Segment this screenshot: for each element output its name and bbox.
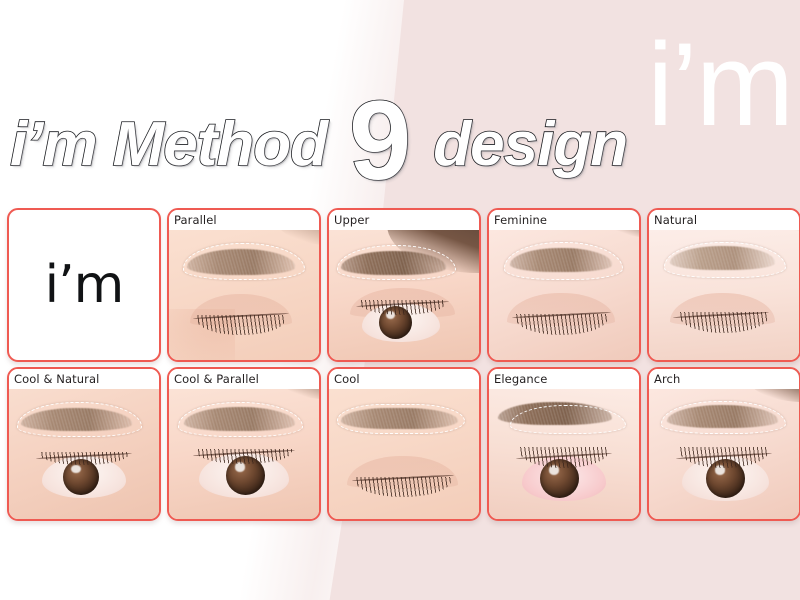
eyebrow-photo-cool	[329, 369, 479, 519]
design-card-feminine[interactable]: Feminine	[487, 208, 641, 362]
design-card-label: Elegance	[489, 369, 639, 389]
design-card-arch[interactable]: Arch	[647, 367, 800, 521]
design-card-label: Parallel	[169, 210, 319, 230]
design-card-label: Natural	[649, 210, 799, 230]
brand-logo-text: i’m	[45, 259, 124, 311]
page-title: i’m Method 9 design	[10, 62, 627, 191]
title-word-design: design	[433, 109, 627, 180]
design-card-row: Cool & Natural Cool & Parallel	[7, 367, 795, 521]
design-card-parallel[interactable]: Parallel	[167, 208, 321, 362]
eyebrow-photo-elegance	[489, 369, 639, 519]
design-card-row: i’m Parallel	[7, 208, 795, 362]
design-card-cool-natural[interactable]: Cool & Natural	[7, 367, 161, 521]
title-number-nine: 9	[349, 76, 411, 205]
design-card-label: Upper	[329, 210, 479, 230]
design-card-natural[interactable]: Natural	[647, 208, 800, 362]
design-card-label: Cool	[329, 369, 479, 389]
brand-watermark: i’m	[647, 26, 792, 144]
eyebrow-photo-natural	[649, 210, 799, 360]
eyebrow-photo-cool-parallel	[169, 369, 319, 519]
design-card-label: Arch	[649, 369, 799, 389]
eyebrow-photo-arch	[649, 369, 799, 519]
eyebrow-photo-parallel	[169, 210, 319, 360]
design-card-cool-parallel[interactable]: Cool & Parallel	[167, 367, 321, 521]
eyebrow-photo-upper	[329, 210, 479, 360]
eyebrow-photo-cool-natural	[9, 369, 159, 519]
design-card-cool[interactable]: Cool	[327, 367, 481, 521]
design-card-label: Cool & Parallel	[169, 369, 319, 389]
design-card-upper[interactable]: Upper	[327, 208, 481, 362]
poster-canvas: i’m i’m Method 9 design i’m	[0, 0, 800, 600]
eyebrow-photo-feminine	[489, 210, 639, 360]
design-card-grid: i’m Parallel	[7, 208, 795, 526]
design-card-elegance[interactable]: Elegance	[487, 367, 641, 521]
title-word-method: Method	[113, 109, 327, 180]
design-card-label: Cool & Natural	[9, 369, 159, 389]
poster-header: i’m i’m Method 9 design	[0, 0, 800, 200]
brand-logo-card[interactable]: i’m	[7, 208, 161, 362]
title-word-im: i’m	[10, 109, 97, 180]
design-card-label: Feminine	[489, 210, 639, 230]
